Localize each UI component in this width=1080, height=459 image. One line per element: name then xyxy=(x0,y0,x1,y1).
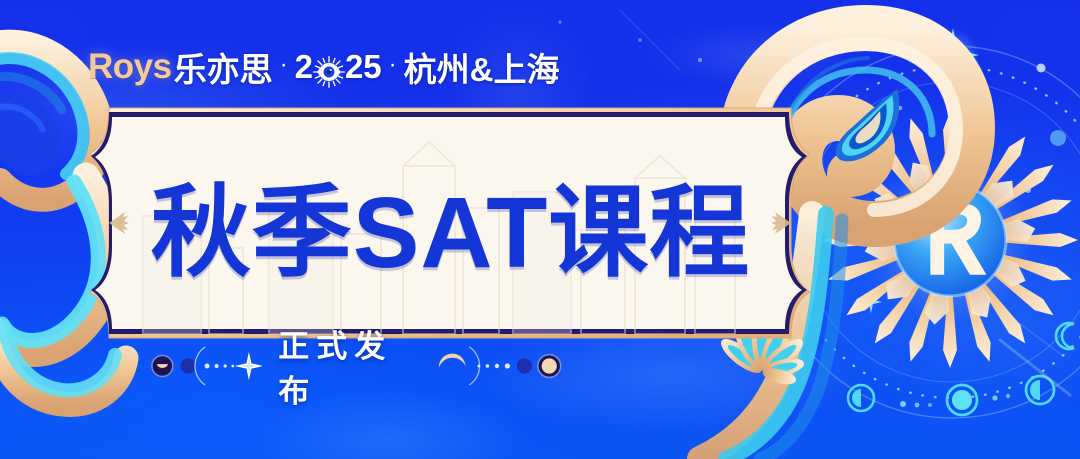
eye-sun-icon xyxy=(312,55,346,89)
navy-dot xyxy=(517,358,532,373)
page-title-text: 秋季SAT课程 xyxy=(151,151,751,296)
brand-separator-2: · xyxy=(389,51,397,79)
year-prefix: 2 xyxy=(295,48,313,86)
brand-separator-1: · xyxy=(280,51,288,79)
release-left-decor xyxy=(150,342,262,390)
full-moon-badge-icon xyxy=(538,355,561,378)
dotted-line xyxy=(477,363,510,368)
year-suffix: 25 xyxy=(345,48,382,86)
moon-badge-icon xyxy=(152,356,173,377)
navy-dot xyxy=(180,358,195,373)
title-plaque: 秋季SAT课程 xyxy=(83,108,818,338)
release-right-decor xyxy=(437,342,570,390)
brand-header: Roys 乐亦思 · 2 xyxy=(88,45,560,89)
crescent-moon-icon xyxy=(439,354,466,368)
dotted-line xyxy=(205,364,234,369)
brand-logo-cn: 乐亦思 xyxy=(174,43,273,91)
release-strip: 正式发布 xyxy=(150,342,570,390)
sparkle-star-icon xyxy=(235,352,263,381)
brand-logo-latin: Roys xyxy=(88,47,172,87)
release-label: 正式发布 xyxy=(278,321,423,411)
promo-banner: 秋季SAT课程 Roys 乐亦思 · 2 xyxy=(0,0,1080,459)
brand-cities: 杭州&上海 xyxy=(404,43,560,91)
page-title: 秋季SAT课程 xyxy=(83,108,818,338)
